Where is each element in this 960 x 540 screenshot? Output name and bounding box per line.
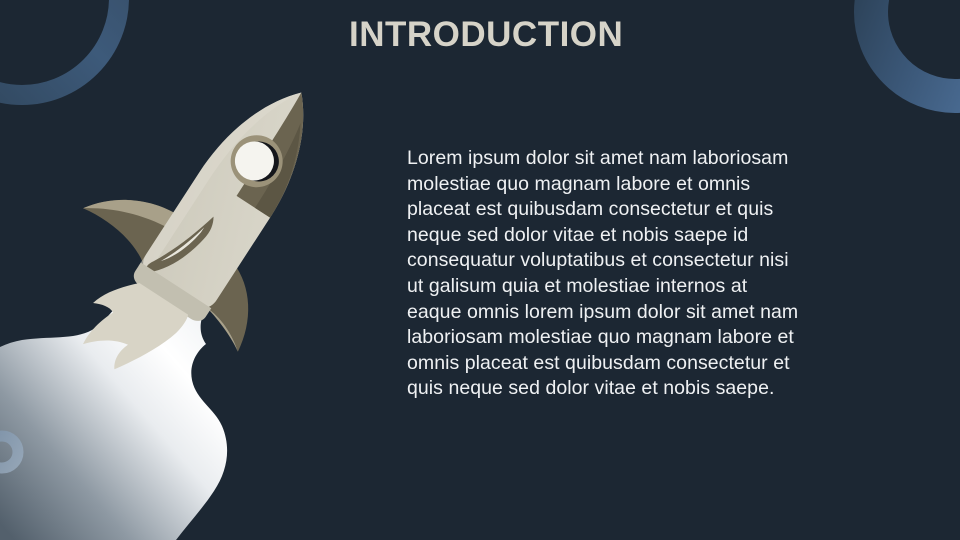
body-line: neque sed dolor vitae et nobis saepe id <box>407 223 859 249</box>
body-line: consequatur voluptatibus et consectetur … <box>407 248 859 274</box>
body-line: ut galisum quia et molestiae internos at <box>407 274 859 300</box>
body-line: quis neque sed dolor vitae et nobis saep… <box>407 376 859 402</box>
body-line: omnis placeat est quibusdam consectetur … <box>407 351 859 377</box>
slide-canvas: INTRODUCTION Lorem ipsum dolor sit amet … <box>0 0 960 540</box>
page-title: INTRODUCTION <box>349 13 623 57</box>
body-line: laboriosam molestiae quo magnam labore e… <box>407 325 859 351</box>
body-line: molestiae quo magnam labore et omnis <box>407 172 859 198</box>
body-line: eaque omnis lorem ipsum dolor sit amet n… <box>407 300 859 326</box>
body-line: placeat est quibusdam consectetur et qui… <box>407 197 859 223</box>
body-line: Lorem ipsum dolor sit amet nam laboriosa… <box>407 146 859 172</box>
body-paragraph: Lorem ipsum dolor sit amet nam laboriosa… <box>407 146 859 402</box>
